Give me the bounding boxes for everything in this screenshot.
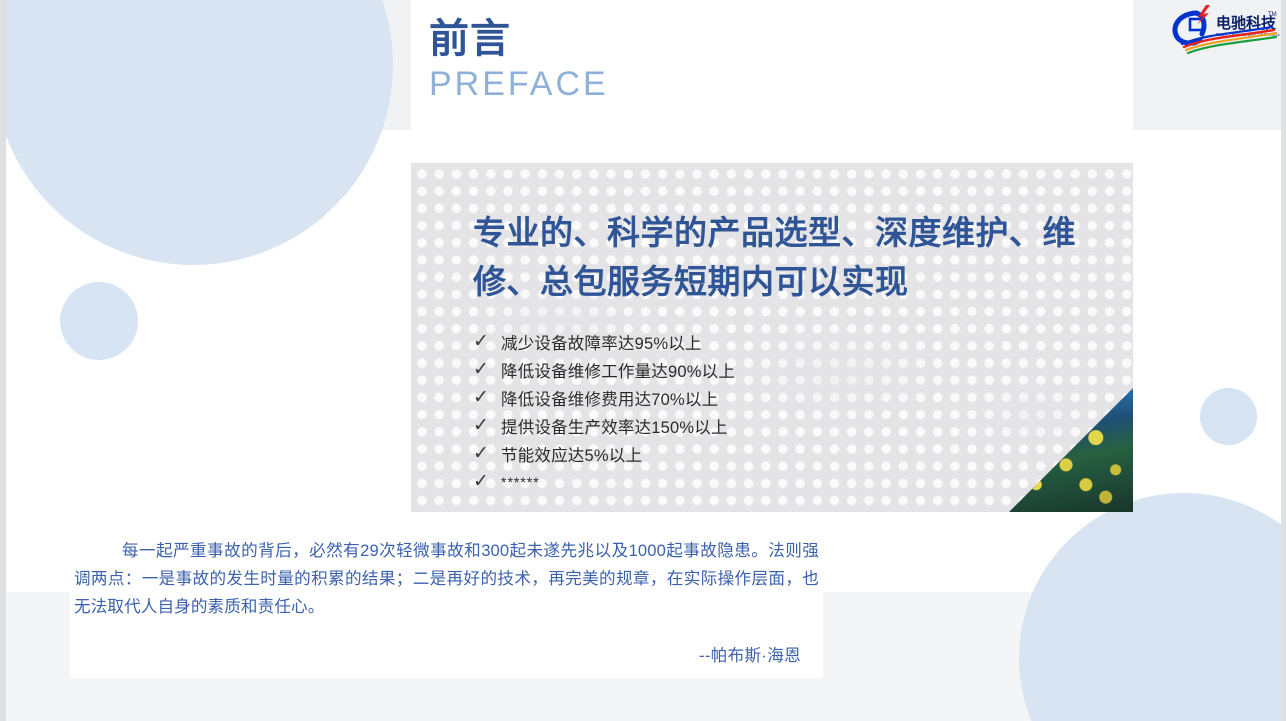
list-item-label: 减少设备故障率达95%以上 [501, 330, 702, 354]
slide-canvas: 前言 PREFACE 专业的、科学的产品选型、深度维护、维修、总包服务短期内可以… [0, 0, 1286, 721]
list-item: ✓ 降低设备维修工作量达90%以上 [473, 359, 1133, 381]
list-item: ✓ 降低设备维修费用达70%以上 [473, 387, 1133, 409]
list-item: ✓ 减少设备故障率达95%以上 [473, 331, 1133, 353]
check-icon: ✓ [473, 388, 501, 407]
list-item-label: 节能效应达5%以上 [501, 442, 642, 466]
list-item: ✓ ****** [473, 471, 1133, 493]
list-item: ✓ 提供设备生产效率达150%以上 [473, 415, 1133, 437]
check-icon: ✓ [473, 472, 501, 491]
list-item-label: 提供设备生产效率达150%以上 [501, 414, 728, 438]
company-logo: 电驰科技 ELECTRICAL CHI TECHNOLOGY TM [1166, 3, 1280, 55]
check-icon: ✓ [473, 332, 501, 351]
quote-card: 每一起严重事故的背后，必然有29次轻微事故和300起未遂先兆以及1000起事故隐… [70, 523, 823, 678]
slide-edge-right [1281, 0, 1286, 721]
check-icon: ✓ [473, 444, 501, 463]
check-icon: ✓ [473, 416, 501, 435]
header-card: 前言 PREFACE [411, 0, 1133, 130]
list-item-label: ****** [501, 474, 540, 490]
dotted-content-panel: 专业的、科学的产品选型、深度维护、维修、总包服务短期内可以实现 ✓ 减少设备故障… [411, 163, 1133, 512]
quote-attribution: --帕布斯·海恩 [699, 642, 801, 666]
page-title-english: PREFACE [429, 66, 609, 103]
slide-edge-left [0, 0, 6, 721]
panel-content: 专业的、科学的产品选型、深度维护、维修、总包服务短期内可以实现 ✓ 减少设备故障… [473, 209, 1133, 499]
decorative-circle-right-small [1200, 388, 1257, 445]
list-item: ✓ 节能效应达5%以上 [473, 443, 1133, 465]
quote-text: 每一起严重事故的背后，必然有29次轻微事故和300起未遂先兆以及1000起事故隐… [74, 537, 819, 621]
check-icon: ✓ [473, 360, 501, 379]
decorative-circle-left-small [60, 282, 138, 360]
page-title-chinese: 前言 [429, 18, 609, 60]
benefits-list: ✓ 减少设备故障率达95%以上 ✓ 降低设备维修工作量达90%以上 ✓ 降低设备… [473, 331, 1133, 493]
list-item-label: 降低设备维修费用达70%以上 [501, 386, 718, 410]
list-item-label: 降低设备维修工作量达90%以上 [501, 358, 735, 382]
header-title-group: 前言 PREFACE [429, 18, 609, 103]
logo-mark: 电驰科技 ELECTRICAL CHI TECHNOLOGY TM [1166, 3, 1280, 55]
panel-heading: 专业的、科学的产品选型、深度维护、维修、总包服务短期内可以实现 [473, 209, 1133, 307]
logo-trademark: TM [1268, 12, 1277, 18]
